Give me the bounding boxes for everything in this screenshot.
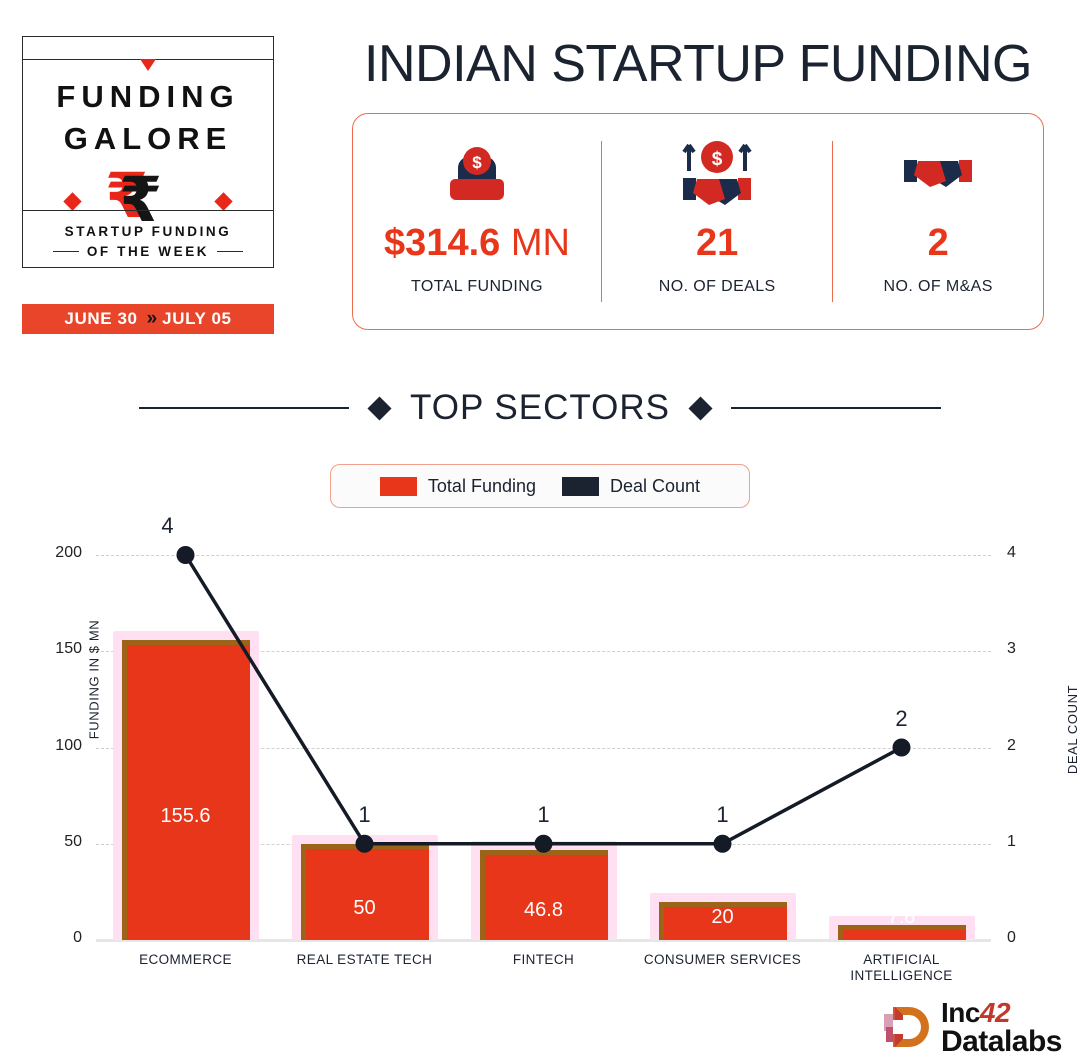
legend-label-total-funding: Total Funding [428,476,536,497]
legend-item-deal-count: Deal Count [562,476,700,497]
banner-rule-left [139,407,349,409]
logo-d-notch [893,1020,909,1034]
stat-value-total-funding: $314.6 MN [384,224,570,262]
x-axis-category-label: CONSUMER SERVICES [633,952,812,968]
line-point-label: 2 [852,706,952,732]
logo-bottom-divider [23,210,273,211]
y-tick-left: 0 [34,929,82,947]
y-tick-left: 100 [34,737,82,755]
legend-swatch-total-funding [380,477,417,496]
infographic-page: FUNDING GALORE ₹ ₹ STARTUP FUNDING OF TH… [0,0,1080,1064]
logo-subtitle-line1: STARTUP FUNDING [23,224,273,239]
summary-stats-card: $ $314.6 MN TOTAL FUNDING $ 21 [352,113,1044,330]
y-tick-left: 150 [34,640,82,658]
caret-down-icon [140,59,156,71]
logo-word-galore: GALORE [23,121,273,157]
date-range-badge: JUNE 30 » JULY 05 [22,304,274,334]
legend-item-total-funding: Total Funding [380,476,536,497]
double-chevron-right-icon: » [147,308,154,330]
line-point-label: 1 [494,802,594,828]
inc42-logo-mark-icon [884,1005,930,1051]
x-axis-category-label: FINTECH [454,952,633,968]
y-tick-right: 4 [1007,544,1016,562]
stat-value-no-of-mas: 2 [928,224,949,262]
stat-label-no-of-deals: NO. OF DEALS [659,278,776,296]
stat-no-of-mas: 2 NO. OF M&AS [833,114,1043,329]
deal-count-line [96,555,991,940]
svg-text:$: $ [712,149,723,170]
section-title: TOP SECTORS [410,388,670,428]
y-tick-left: 200 [34,544,82,562]
stat-label-no-of-mas: NO. OF M&AS [884,278,993,296]
handshake-icon [896,136,980,210]
legend-label-deal-count: Deal Count [610,476,700,497]
top-sectors-banner: TOP SECTORS [0,388,1080,428]
date-to: JULY 05 [162,309,231,329]
diamond-icon-left [63,192,81,210]
rupee-glyph-dark: ₹ [119,169,162,231]
line-point-label: 1 [673,802,773,828]
svg-text:$: $ [472,153,482,172]
stat-total-funding: $ $314.6 MN TOTAL FUNDING [353,114,601,329]
diamond-icon-banner-right [688,396,712,420]
logo-subtitle-line2: OF THE WEEK [87,244,209,259]
x-axis-category-label: ARTIFICIAL INTELLIGENCE [812,952,991,984]
date-from: JUNE 30 [64,309,137,329]
wordmark-42: 42 [980,997,1010,1028]
diamond-icon-right [214,192,232,210]
y-axis-label-right: DEAL COUNT [1065,685,1080,774]
banner-rule-right [731,407,941,409]
stat-value-unit: MN [500,222,570,264]
wordmark-datalabs: Datalabs [941,1027,1062,1058]
x-axis-category-label: ECOMMERCE [96,952,275,968]
wordmark-inc: Inc [941,997,980,1028]
y-tick-right: 1 [1007,833,1016,851]
y-tick-right: 3 [1007,640,1016,658]
stat-label-total-funding: TOTAL FUNDING [411,278,543,296]
y-tick-right: 2 [1007,737,1016,755]
money-bag-icon: $ [442,136,512,210]
y-tick-left: 50 [34,833,82,851]
y-axis-label-left: FUNDING IN $ MN [86,620,101,740]
wordmark-inc42: Inc42 [941,999,1062,1028]
rule-left [53,251,79,252]
y-tick-right: 0 [1007,929,1016,947]
legend-swatch-deal-count [562,477,599,496]
inc42-wordmark: Inc42 Datalabs [941,999,1062,1058]
funding-galore-logo: FUNDING GALORE ₹ ₹ STARTUP FUNDING OF TH… [22,36,274,268]
chart-legend: Total Funding Deal Count [330,464,750,508]
x-axis-category-label: REAL ESTATE TECH [275,952,454,968]
line-point-label: 1 [315,802,415,828]
logo-word-funding: FUNDING [23,79,273,115]
line-point-label: 4 [118,513,218,539]
top-sectors-chart: 05010015020001234155.6ECOMMERCE50REAL ES… [0,530,1080,950]
stat-no-of-deals: $ 21 NO. OF DEALS [602,114,832,329]
logo-subtitle-line2-row: OF THE WEEK [23,244,273,259]
page-title: INDIAN STARTUP FUNDING [352,34,1044,94]
chart-plot-area: 05010015020001234155.6ECOMMERCE50REAL ES… [96,555,991,940]
diamond-icon-banner-left [367,396,391,420]
inc42-datalabs-logo: Inc42 Datalabs [884,999,1062,1058]
deal-handshake-icon: $ [675,136,759,210]
stat-value-accent: $314.6 [384,222,500,264]
rule-right [217,251,243,252]
stat-value-no-of-deals: 21 [696,224,738,262]
